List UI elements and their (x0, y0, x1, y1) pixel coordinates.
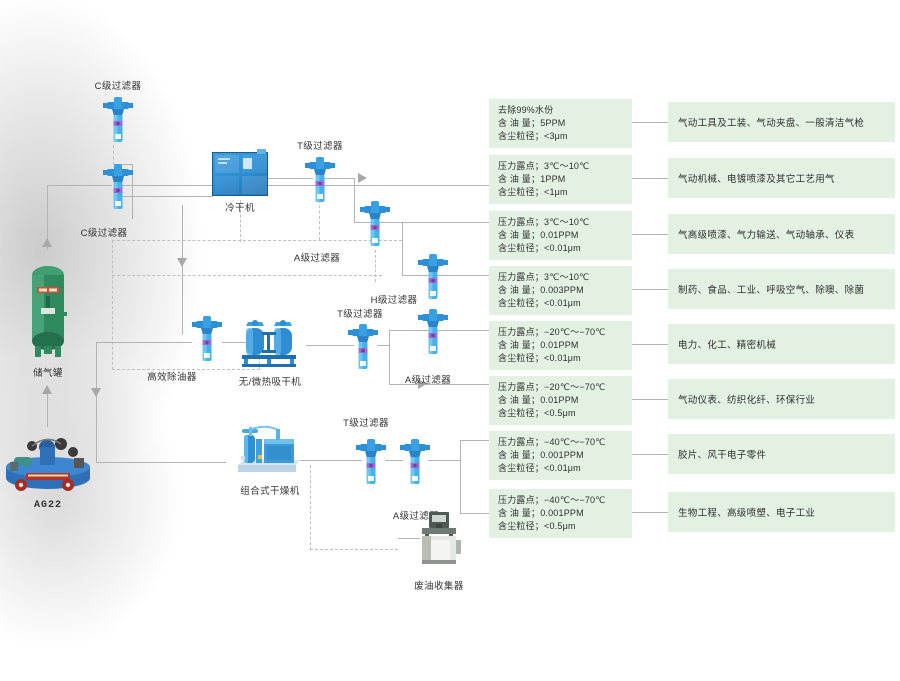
spec-line-3: 含尘粒径；<3μm (498, 130, 625, 143)
spec-box: 压力露点；−40℃～−70℃ 含 油 量；0.001PPM 含尘粒径；<0.01… (489, 431, 632, 480)
caption-refrig-dryer: 冷干机 (208, 200, 272, 214)
air-compressor-icon (4, 432, 92, 494)
application-text: 气动仪表、纺织化纤、环保行业 (678, 392, 815, 406)
spec-box: 压力露点；−40℃～−70℃ 含 油 量；0.001PPM 含尘粒径；<0.5μ… (489, 489, 632, 538)
filter-icon (356, 438, 386, 486)
application-box: 胶片、风干电子零件 (668, 434, 895, 474)
filter-icon (348, 323, 378, 371)
spec-line-1: 压力露点；−40℃～−70℃ (498, 494, 625, 507)
caption-filter-h-1: H级过滤器 (358, 292, 430, 306)
application-box: 气动仪表、纺织化纤、环保行业 (668, 379, 895, 419)
spec-line-3: 含尘粒径；<0.01μm (498, 462, 625, 475)
spec-line-2: 含 油 量；0.003PPM (498, 284, 625, 297)
spec-line-2: 含 油 量；5PPM (498, 117, 625, 130)
application-box: 电力、化工、精密机械 (668, 324, 895, 364)
spec-box: 压力露点；−20℃～−70℃ 含 油 量；0.01PPM 含尘粒径；<0.01μ… (489, 321, 632, 370)
spec-line-3: 含尘粒径；<0.01μm (498, 297, 625, 310)
spec-box: 压力露点；3℃～10℃ 含 油 量；0.003PPM 含尘粒径；<0.01μm (489, 266, 632, 315)
caption-oil-collector: 废油收集器 (400, 578, 478, 592)
spec-line-3: 含尘粒径；<0.01μm (498, 242, 625, 255)
spec-box: 去除99%水份 含 油 量；5PPM 含尘粒径；<3μm (489, 99, 632, 148)
caption-filter-a-2: A级过滤器 (392, 372, 464, 386)
spec-box: 压力露点；−20℃～−70℃ 含 油 量；0.01PPM 含尘粒径；<0.5μm (489, 376, 632, 425)
caption-filter-t-3: T级过滤器 (330, 415, 402, 429)
filter-icon (418, 308, 448, 356)
spec-line-2: 含 油 量；1PPM (498, 173, 625, 186)
filter-icon (360, 200, 390, 248)
spec-line-2: 含 油 量；0.01PPM (498, 394, 625, 407)
caption-filter-t-1: T级过滤器 (284, 138, 356, 152)
spec-box: 压力露点；3℃～10℃ 含 油 量；0.01PPM 含尘粒径；<0.01μm (489, 211, 632, 260)
spec-line-3: 含尘粒径；<1μm (498, 186, 625, 199)
spec-line-3: 含尘粒径；<0.5μm (498, 520, 625, 533)
application-box: 制药、食品、工业、呼吸空气、除噢、除菌 (668, 269, 895, 309)
caption-combo-dryer: 组合式干燥机 (222, 483, 318, 497)
application-box: 气动机械、电镀喷漆及其它工艺用气 (668, 158, 895, 198)
spec-line-1: 压力露点；3℃～10℃ (498, 271, 625, 284)
application-text: 电力、化工、精密机械 (678, 337, 776, 351)
adsorption-dryer-icon (238, 320, 300, 368)
spec-line-2: 含 油 量；0.01PPM (498, 229, 625, 242)
air-receiver-tank-icon (27, 262, 69, 360)
filter-icon (400, 438, 430, 486)
caption-filter-t-2: T级过滤器 (324, 306, 396, 320)
spec-line-1: 压力露点；−20℃～−70℃ (498, 326, 625, 339)
spec-line-1: 去除99%水份 (498, 104, 625, 117)
caption-compressor: AG22 (4, 500, 92, 511)
application-text: 胶片、风干电子零件 (678, 447, 766, 461)
refrigerated-dryer-icon (212, 152, 268, 196)
application-text: 气动机械、电镀喷漆及其它工艺用气 (678, 171, 835, 185)
filter-icon (305, 156, 335, 204)
spec-line-1: 压力露点；3℃～10℃ (498, 160, 625, 173)
spec-line-1: 压力露点；−40℃～−70℃ (498, 436, 625, 449)
application-text: 生物工程、高级喷塑、电子工业 (678, 505, 815, 519)
caption-filter-a-1: A级过滤器 (281, 250, 353, 264)
filter-icon (103, 163, 133, 211)
spec-line-3: 含尘粒径；<0.5μm (498, 407, 625, 420)
spec-line-1: 压力露点；−20℃～−70℃ (498, 381, 625, 394)
application-box: 气动工具及工装、气动夹盘、一般清洁气枪 (668, 102, 895, 142)
combination-dryer-icon (232, 425, 302, 475)
application-text: 气高级喷漆、气力输送、气动轴承、仪表 (678, 227, 854, 241)
spec-line-2: 含 油 量；0.001PPM (498, 449, 625, 462)
waste-oil-collector-icon (412, 510, 464, 566)
caption-ads-dryer: 无/微热吸干机 (222, 374, 318, 388)
caption-filter-c-mid: C级过滤器 (68, 225, 140, 239)
spec-line-1: 压力露点；3℃～10℃ (498, 216, 625, 229)
caption-filter-c-top: C级过滤器 (82, 78, 154, 92)
caption-air-tank: 储气罐 (17, 365, 79, 379)
spec-line-3: 含尘粒径；<0.01μm (498, 352, 625, 365)
application-box: 生物工程、高级喷塑、电子工业 (668, 492, 895, 532)
spec-box: 压力露点；3℃～10℃ 含 油 量；1PPM 含尘粒径；<1μm (489, 155, 632, 204)
application-text: 气动工具及工装、气动夹盘、一般清洁气枪 (678, 115, 864, 129)
application-box: 气高级喷漆、气力输送、气动轴承、仪表 (668, 214, 895, 254)
filter-icon (103, 96, 133, 144)
caption-oil-remover: 高效除油器 (128, 369, 216, 383)
spec-line-2: 含 油 量；0.001PPM (498, 507, 625, 520)
application-text: 制药、食品、工业、呼吸空气、除噢、除菌 (678, 282, 864, 296)
process-flow-diagram: AG22 储气罐 (0, 0, 900, 681)
spec-line-2: 含 油 量；0.01PPM (498, 339, 625, 352)
filter-icon (192, 315, 222, 363)
